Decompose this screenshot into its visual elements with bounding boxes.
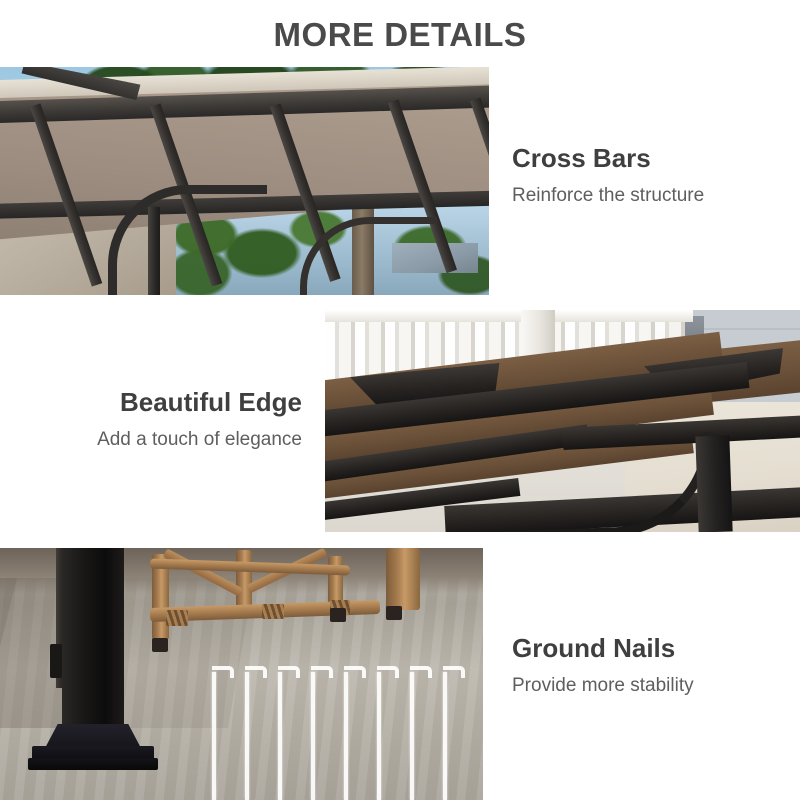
ground-stake	[344, 666, 368, 800]
pergola-post	[62, 548, 124, 730]
ground-stake	[245, 666, 269, 800]
support-post	[695, 435, 732, 532]
feature-subtitle-cross-bars: Reinforce the structure	[512, 182, 704, 210]
ground-stake	[212, 666, 236, 800]
rattan-binding	[262, 604, 284, 619]
rattan-foot	[330, 608, 346, 622]
rattan-binding	[166, 610, 188, 626]
feature-title-ground-nails: Ground Nails	[512, 632, 694, 665]
ground-stake	[377, 666, 401, 800]
feature-subtitle-beautiful-edge: Add a touch of elegance	[97, 426, 302, 454]
feature-caption-beautiful-edge: Beautiful Edge Add a touch of elegance	[97, 386, 302, 453]
feature-image-cross-bars	[0, 67, 489, 295]
ground-stake	[278, 666, 302, 800]
page-title: MORE DETAILS	[0, 16, 800, 54]
feature-image-beautiful-edge	[325, 310, 800, 532]
feature-caption-cross-bars: Cross Bars Reinforce the structure	[512, 142, 704, 209]
post-base-lower	[28, 758, 158, 770]
ground-stake	[410, 666, 434, 800]
rattan-foot	[386, 606, 402, 620]
feature-title-cross-bars: Cross Bars	[512, 142, 704, 175]
support-post	[148, 207, 160, 295]
feature-subtitle-ground-nails: Provide more stability	[512, 672, 694, 700]
post-clip	[50, 644, 62, 678]
feature-caption-ground-nails: Ground Nails Provide more stability	[512, 632, 694, 699]
feature-image-ground-nails	[0, 548, 483, 800]
balustrade-top-rail	[325, 310, 693, 322]
rattan-leg	[386, 548, 420, 610]
rattan-foot	[152, 638, 168, 652]
ground-stake	[443, 666, 467, 800]
feature-title-beautiful-edge: Beautiful Edge	[97, 386, 302, 419]
ground-stake	[311, 666, 335, 800]
